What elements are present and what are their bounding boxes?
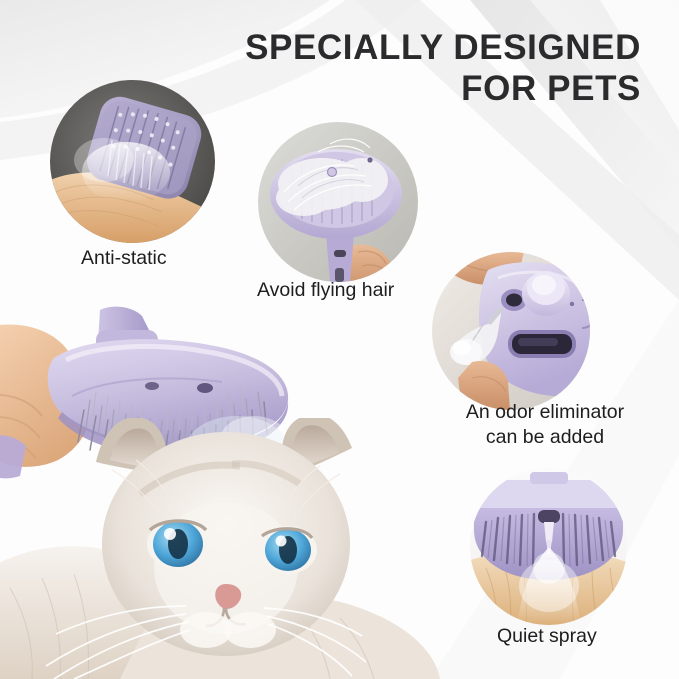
caption-quiet-spray: Quiet spray — [497, 624, 597, 649]
feature-image-anti-static — [50, 80, 215, 243]
caption-odor-eliminator: An odor eliminator can be added — [425, 400, 665, 450]
feature-image-avoid-flying-hair — [258, 122, 418, 282]
cat-image — [0, 418, 452, 679]
caption-avoid-flying-hair: Avoid flying hair — [257, 278, 394, 303]
headline-line-1: SPECIALLY DESIGNED — [221, 28, 641, 69]
feature-image-quiet-spray — [470, 468, 627, 625]
product-infographic: SPECIALLY DESIGNED FOR PETS — [0, 0, 679, 679]
page-title: SPECIALLY DESIGNED FOR PETS — [221, 28, 641, 110]
caption-anti-static: Anti-static — [81, 246, 167, 271]
feature-image-odor-eliminator — [432, 252, 590, 410]
headline-line-2: FOR PETS — [221, 69, 641, 110]
